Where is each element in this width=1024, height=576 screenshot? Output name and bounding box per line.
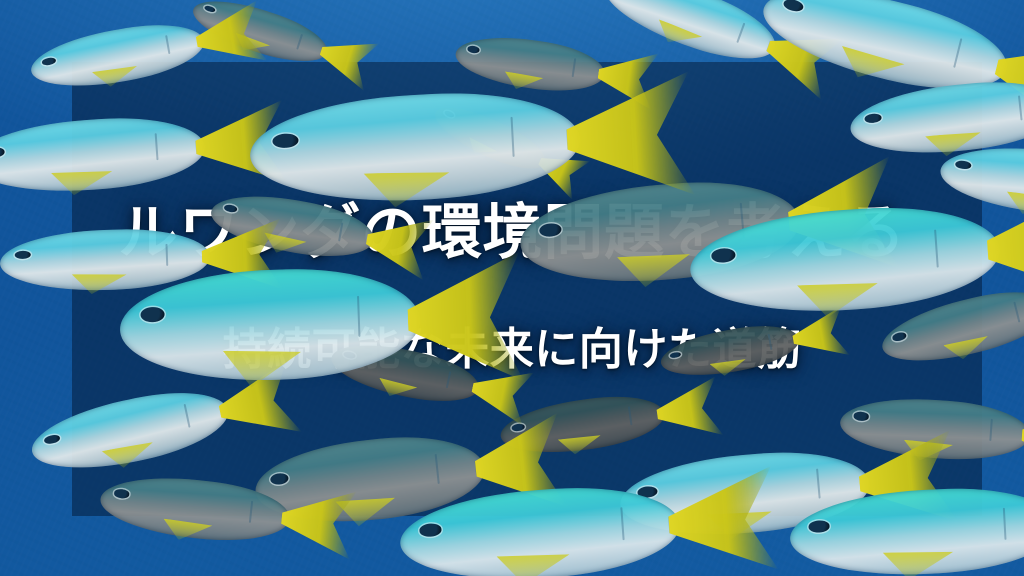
- fish: [118, 265, 422, 385]
- fish-eye: [854, 412, 870, 421]
- fish: [788, 483, 1024, 576]
- fish: [247, 86, 582, 208]
- title-card: ルワンダの環境問題を考える 持続可能な未来に向けた道筋: [0, 0, 1024, 576]
- fish-eye: [114, 489, 130, 499]
